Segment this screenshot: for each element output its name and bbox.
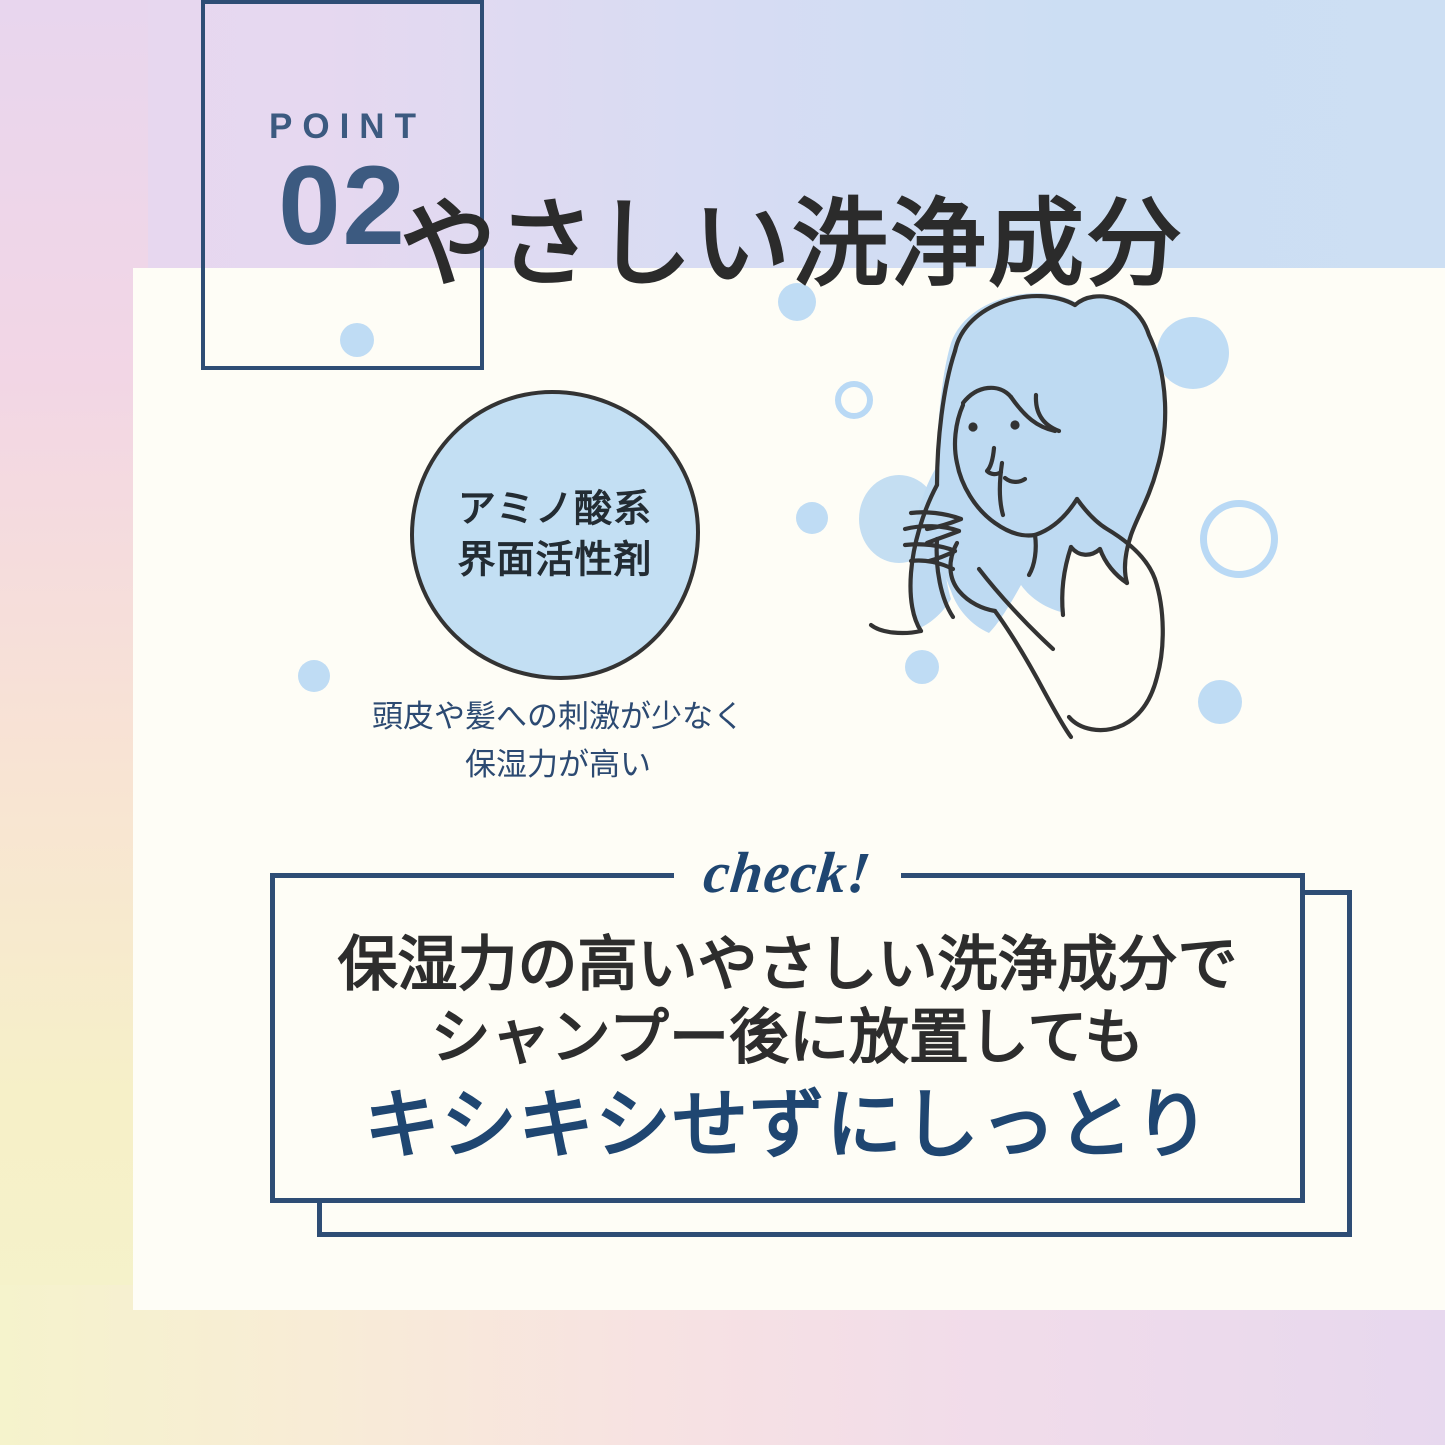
point-badge: POINT 02 (201, 0, 484, 370)
content-card: POINT 02 (133, 268, 1445, 1310)
check-line-2: シャンプー後に放置しても (270, 1001, 1305, 1074)
point-label: POINT (259, 109, 426, 144)
check-badge-gap: check! (674, 844, 901, 902)
background-left-band (0, 0, 148, 1445)
check-section: check! 保湿力の高いやさしい洗浄成分で シャンプー後に放置しても キシキシ… (133, 268, 1445, 1310)
page-title: やさしい洗浄成分 (400, 192, 1184, 298)
check-line-1: 保湿力の高いやさしい洗浄成分で (270, 928, 1305, 1001)
check-highlight: キシキシせずにしっとり (270, 1078, 1305, 1173)
point-number: 02 (278, 150, 407, 262)
check-body: 保湿力の高いやさしい洗浄成分で シャンプー後に放置しても キシキシせずにしっとり (270, 928, 1305, 1173)
check-label: check! (701, 844, 874, 902)
check-badge: check! (270, 844, 1305, 902)
